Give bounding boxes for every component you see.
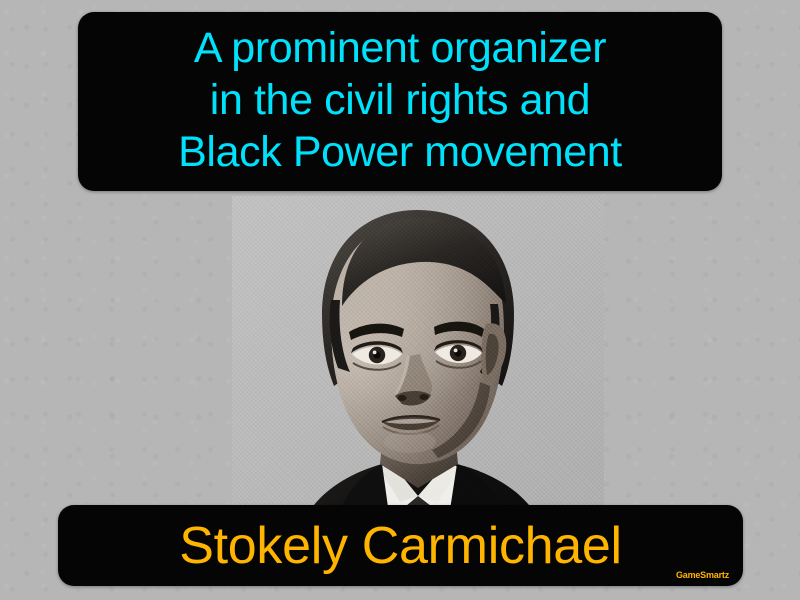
term-text: Stokely Carmichael [179, 517, 622, 575]
flashcard: A prominent organizer in the civil right… [0, 0, 800, 600]
definition-text: A prominent organizer in the civil right… [178, 22, 622, 178]
watermark-label: GameSmartz [676, 570, 729, 580]
definition-panel: A prominent organizer in the civil right… [78, 12, 722, 191]
portrait-photograph [232, 196, 604, 556]
term-panel: Stokely Carmichael GameSmartz [58, 505, 743, 586]
